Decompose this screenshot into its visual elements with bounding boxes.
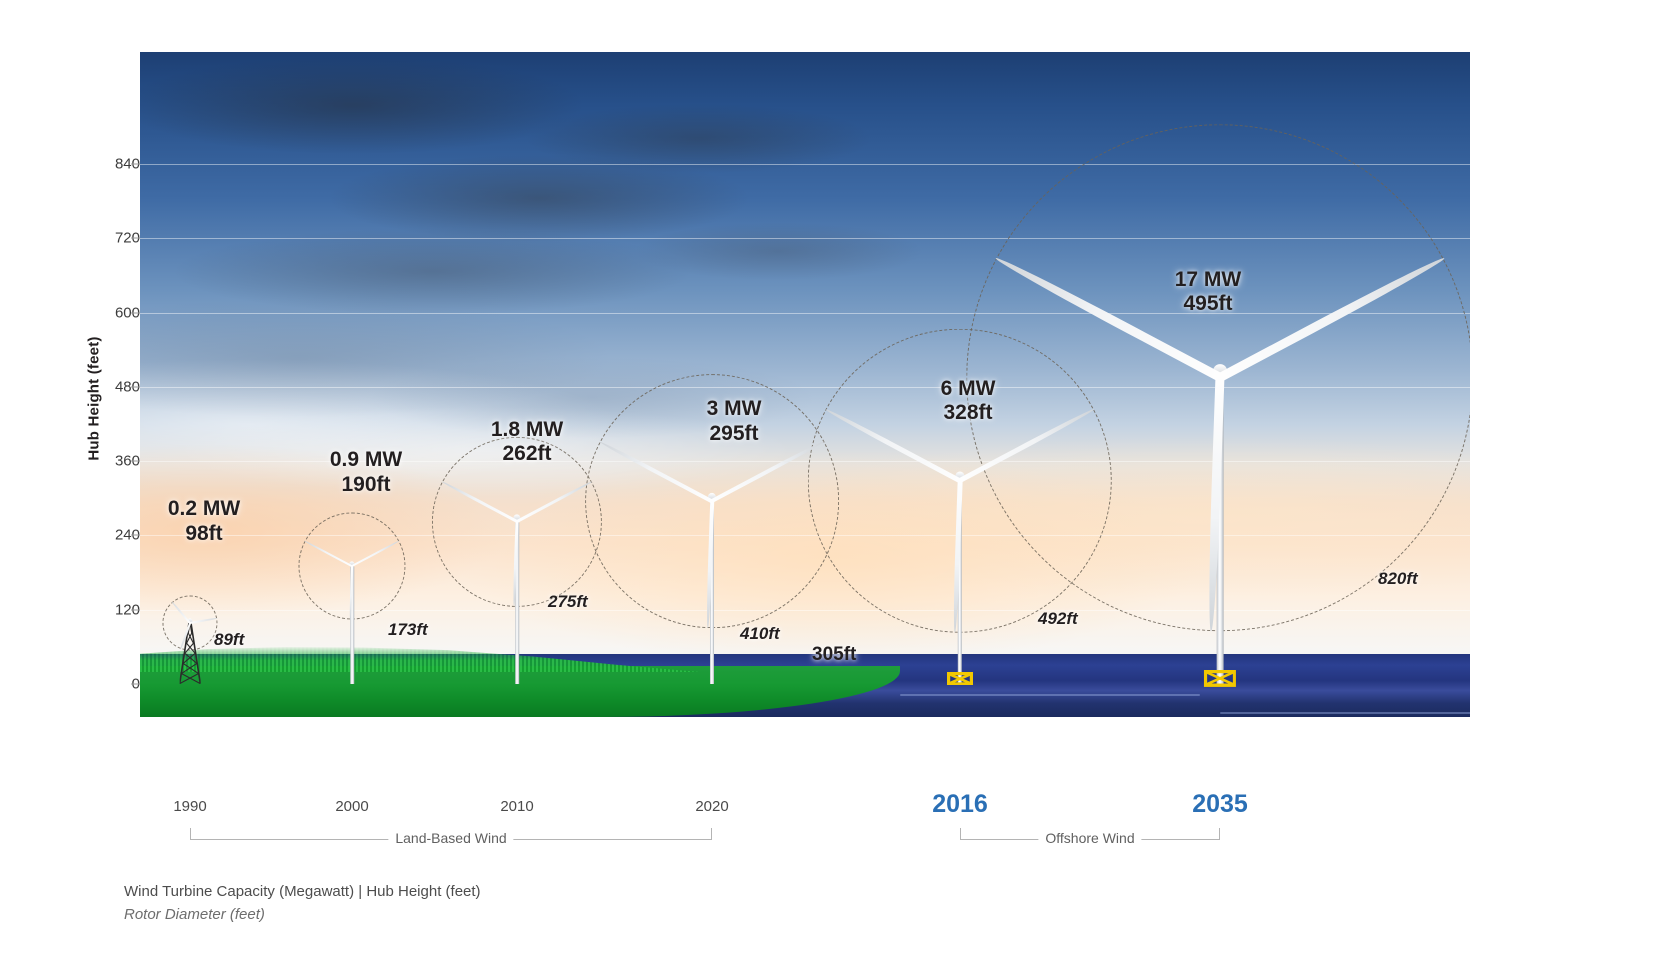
y-tick-mark-600 — [131, 312, 140, 313]
hub-height-value: 98ft — [185, 522, 222, 545]
y-axis: 0120240360480600720840 — [55, 0, 140, 960]
bracket-tick-right — [711, 828, 712, 839]
rotor-diameter-value: 89ft — [214, 630, 244, 649]
rotor-diameter-value: 275ft — [548, 592, 588, 611]
x-tick-label-2035: 2035 — [1192, 790, 1248, 819]
caption-line-1: Wind Turbine Capacity (Megawatt) | Hub H… — [124, 880, 481, 903]
wind-turbine-scale-infographic: Hub Height (feet) 0120240360480600720840 — [0, 0, 1680, 960]
y-tick-label-720: 720 — [70, 230, 140, 247]
x-tick-label-2016: 2016 — [932, 790, 988, 819]
y-tick-label-600: 600 — [70, 304, 140, 321]
rotor-diameter-value: 410ft — [740, 624, 780, 643]
capacity-value: 0.2 MW — [168, 497, 240, 520]
rotor-diameter-label-2010: 275ft — [548, 592, 588, 612]
capacity-value: 6 MW — [941, 377, 996, 400]
turbine-label-2010: 1.8 MW262ft — [491, 418, 563, 467]
wave-3 — [1220, 712, 1470, 714]
bracket-label: Land-Based Wind — [388, 830, 513, 846]
offshore-foundation — [1204, 670, 1236, 692]
x-tick-label-2010: 2010 — [500, 798, 533, 815]
y-tick-label-120: 120 — [70, 601, 140, 618]
hub-height-value: 495ft — [1183, 292, 1232, 315]
x-tick-label-2000: 2000 — [335, 798, 368, 815]
bracket-offshore-wind: Offshore Wind — [960, 828, 1220, 854]
bracket-tick-left — [960, 828, 961, 839]
x-tick-label-2020: 2020 — [695, 798, 728, 815]
caption: Wind Turbine Capacity (Megawatt) | Hub H… — [124, 880, 481, 927]
capacity-value: 1.8 MW — [491, 418, 563, 441]
rotor-diameter-value: 173ft — [388, 620, 428, 639]
rotor-diameter-label-2035: 820ft — [1378, 569, 1418, 589]
turbine-label-2020: 3 MW295ft — [707, 397, 762, 446]
rotor-diameter-value: 820ft — [1378, 569, 1418, 588]
y-tick-label-240: 240 — [70, 527, 140, 544]
plot-area: 0.2 MW98ft0.9 MW190ft1.8 MW262ft3 MW295f… — [140, 52, 1470, 717]
statue-height-value: 305ft — [812, 644, 856, 665]
bracket-tick-left — [190, 828, 191, 839]
capacity-value: 17 MW — [1175, 268, 1242, 291]
rotor-diameter-label-2000: 173ft — [388, 620, 428, 640]
turbine-label-2000: 0.9 MW190ft — [330, 448, 402, 497]
rotor-diameter-value: 492ft — [1038, 609, 1078, 628]
bracket-label: Offshore Wind — [1038, 830, 1141, 846]
turbine-blade-2 — [1218, 255, 1446, 382]
hub-height-value: 190ft — [341, 473, 390, 496]
y-tick-mark-360 — [131, 461, 140, 462]
bracket-land-based-wind: Land-Based Wind — [190, 828, 712, 854]
y-tick-mark-240 — [131, 535, 140, 536]
y-tick-mark-840 — [131, 164, 140, 165]
y-tick-label-360: 360 — [70, 453, 140, 470]
hub-height-value: 328ft — [943, 401, 992, 424]
y-tick-label-0: 0 — [70, 676, 140, 693]
turbine-label-2016: 6 MW328ft — [941, 377, 996, 426]
rotor-diameter-label-2016: 492ft — [1038, 609, 1078, 629]
capacity-value: 3 MW — [707, 397, 762, 420]
y-tick-mark-0 — [131, 684, 140, 685]
y-tick-mark-480 — [131, 386, 140, 387]
hub-height-value: 262ft — [502, 442, 551, 465]
turbine-label-2035: 17 MW495ft — [1175, 268, 1242, 317]
turbine-2035 — [1020, 52, 1420, 684]
caption-line-2: Rotor Diameter (feet) — [124, 903, 481, 926]
wave-0 — [900, 694, 1200, 696]
rotor-diameter-label-1990: 89ft — [214, 630, 244, 650]
turbine-blade-1 — [441, 481, 518, 524]
offshore-foundation — [947, 672, 973, 691]
y-tick-mark-120 — [131, 609, 140, 610]
hub-height-value: 295ft — [709, 422, 758, 445]
capacity-value: 0.9 MW — [330, 448, 402, 471]
y-tick-label-480: 480 — [70, 378, 140, 395]
statue-height-label: 305ft — [812, 644, 856, 666]
x-tick-label-1990: 1990 — [173, 798, 206, 815]
turbine-blade-1 — [599, 440, 713, 503]
bracket-tick-right — [1219, 828, 1220, 839]
turbine-label-1990: 0.2 MW98ft — [168, 497, 240, 546]
y-tick-label-840: 840 — [70, 156, 140, 173]
rotor-diameter-label-2020: 410ft — [740, 624, 780, 644]
y-tick-mark-720 — [131, 238, 140, 239]
